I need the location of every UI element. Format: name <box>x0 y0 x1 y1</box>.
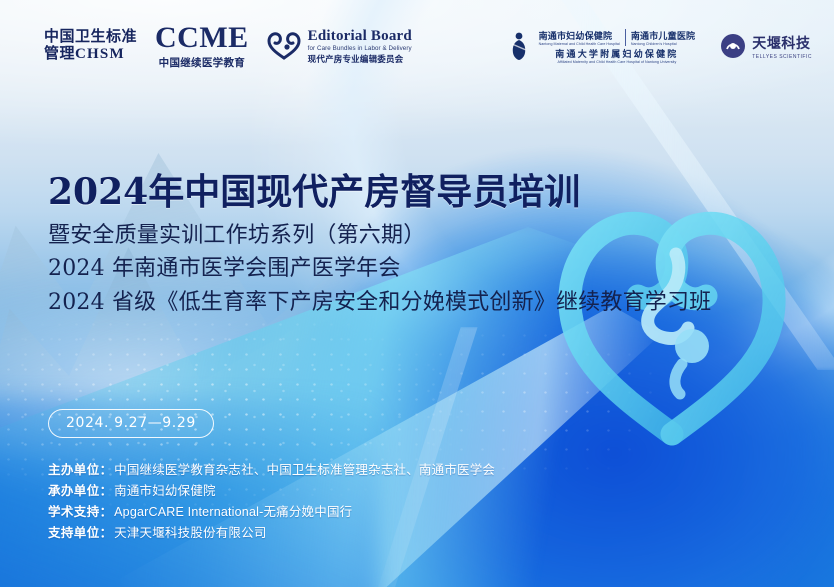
logo-hospital-text: 南通市妇幼保健院 Nantong Maternal and Child Heal… <box>534 29 701 64</box>
logo-group-right: 南通市妇幼保健院 Nantong Maternal and Child Heal… <box>509 29 812 64</box>
organizer-colon: ： <box>100 481 113 502</box>
logo-eb-line2: for Care Bundles in Labor & Delivery <box>308 46 412 53</box>
subtitle-line-1: 暨安全质量实训工作坊系列（第六期） <box>48 219 711 252</box>
logo-chsm-line2: 管理CHSM <box>44 46 137 63</box>
logo-hospital-col-right: 南通市儿童医院 Nantong Children's Hospital <box>625 29 700 46</box>
logo-chsm-line2-en: CHSM <box>75 46 125 62</box>
organizer-label: 承办单位 <box>48 481 100 502</box>
logo-nantong-hospital: 南通市妇幼保健院 Nantong Maternal and Child Heal… <box>509 29 701 64</box>
organizer-label: 支持单位 <box>48 523 100 544</box>
conference-poster: 中国卫生标准 管理CHSM CCME 中国继续医学教育 Editorial Bo… <box>0 0 834 587</box>
logo-tellyes-en: TELLYES SCIENTIFIC <box>752 54 812 60</box>
logo-tellyes-cn: 天堰科技 <box>752 33 812 53</box>
organizer-row-academic-support: 学术支持 ： ApgarCARE International-无痛分娩中国行 <box>48 502 495 523</box>
logo-chsm: 中国卫生标准 管理CHSM <box>44 29 137 63</box>
logo-hospital-en-right: Nantong Children's Hospital <box>631 42 695 46</box>
subtitle-line-3: 2024 省级《低生育率下产房安全和分娩模式创新》继续教育学习班 <box>48 286 711 319</box>
logo-tellyes-text: 天堰科技 TELLYES SCIENTIFIC <box>752 33 812 60</box>
logo-tellyes: 天堰科技 TELLYES SCIENTIFIC <box>720 33 812 60</box>
logo-editorial-board: Editorial Board for Care Bundles in Labo… <box>267 28 412 64</box>
organizer-value: ApgarCARE International-无痛分娩中国行 <box>114 502 352 523</box>
logo-hospital-row2: 南通大学附属妇幼保健院 Affiliated Maternity and Chi… <box>534 47 701 64</box>
organizer-row-organizer: 承办单位 ： 南通市妇幼保健院 <box>48 481 495 502</box>
organizer-label: 主办单位 <box>48 460 100 481</box>
logo-hospital-en-left: Nantong Maternal and Child Health Care H… <box>539 42 620 46</box>
logo-chsm-line1: 中国卫生标准 <box>44 29 137 46</box>
heart-mother-child-icon <box>267 31 301 61</box>
organizer-row-host: 主办单位 ： 中国继续医学教育杂志社、中国卫生标准管理杂志社、南通市医学会 <box>48 460 495 481</box>
hospital-figure-icon <box>509 31 529 61</box>
logo-hospital-col-left: 南通市妇幼保健院 Nantong Maternal and Child Heal… <box>534 29 625 46</box>
subtitle-line-2: 2024 年南通市医学会围产医学年会 <box>48 252 711 285</box>
logo-ccme-acronym: CCME <box>155 23 249 53</box>
logo-ccme-subtitle: 中国继续医学教育 <box>155 55 249 70</box>
logo-group-left: 中国卫生标准 管理CHSM CCME 中国继续医学教育 Editorial Bo… <box>44 23 412 70</box>
logo-hospital-en-bottom: Affiliated Maternity and Child Health Ca… <box>534 60 701 64</box>
tellyes-circle-icon <box>720 33 746 59</box>
logo-hospital-cn-right: 南通市儿童医院 <box>631 29 695 42</box>
logo-editorial-board-text: Editorial Board for Care Bundles in Labo… <box>308 28 412 64</box>
logo-hospital-cn-left: 南通市妇幼保健院 <box>539 29 620 42</box>
date-badge: 2024. 9.27—9.29 <box>48 409 214 438</box>
organizer-value: 天津天堰科技股份有限公司 <box>114 523 266 544</box>
page-title: 2024年中国现代产房督导员培训 <box>48 163 580 215</box>
organizer-colon: ： <box>100 460 113 481</box>
logo-eb-line3: 现代产房专业编辑委员会 <box>308 55 412 65</box>
organizer-list: 主办单位 ： 中国继续医学教育杂志社、中国卫生标准管理杂志社、南通市医学会 承办… <box>48 460 495 544</box>
organizer-row-supporting-unit: 支持单位 ： 天津天堰科技股份有限公司 <box>48 523 495 544</box>
sponsor-logo-bar: 中国卫生标准 管理CHSM CCME 中国继续医学教育 Editorial Bo… <box>0 0 834 92</box>
logo-hospital-row1: 南通市妇幼保健院 Nantong Maternal and Child Heal… <box>534 29 701 46</box>
organizer-value: 中国继续医学教育杂志社、中国卫生标准管理杂志社、南通市医学会 <box>114 460 495 481</box>
subtitle-list: 暨安全质量实训工作坊系列（第六期） 2024 年南通市医学会围产医学年会 202… <box>48 219 711 319</box>
logo-eb-line1: Editorial Board <box>308 28 412 45</box>
logo-hospital-cn-bottom: 南通大学附属妇幼保健院 <box>534 47 701 60</box>
organizer-colon: ： <box>100 523 113 544</box>
logo-ccme: CCME 中国继续医学教育 <box>155 23 249 70</box>
organizer-value: 南通市妇幼保健院 <box>114 481 216 502</box>
organizer-colon: ： <box>100 502 113 523</box>
logo-chsm-line2-cn: 管理 <box>44 45 75 62</box>
organizer-label: 学术支持 <box>48 502 100 523</box>
